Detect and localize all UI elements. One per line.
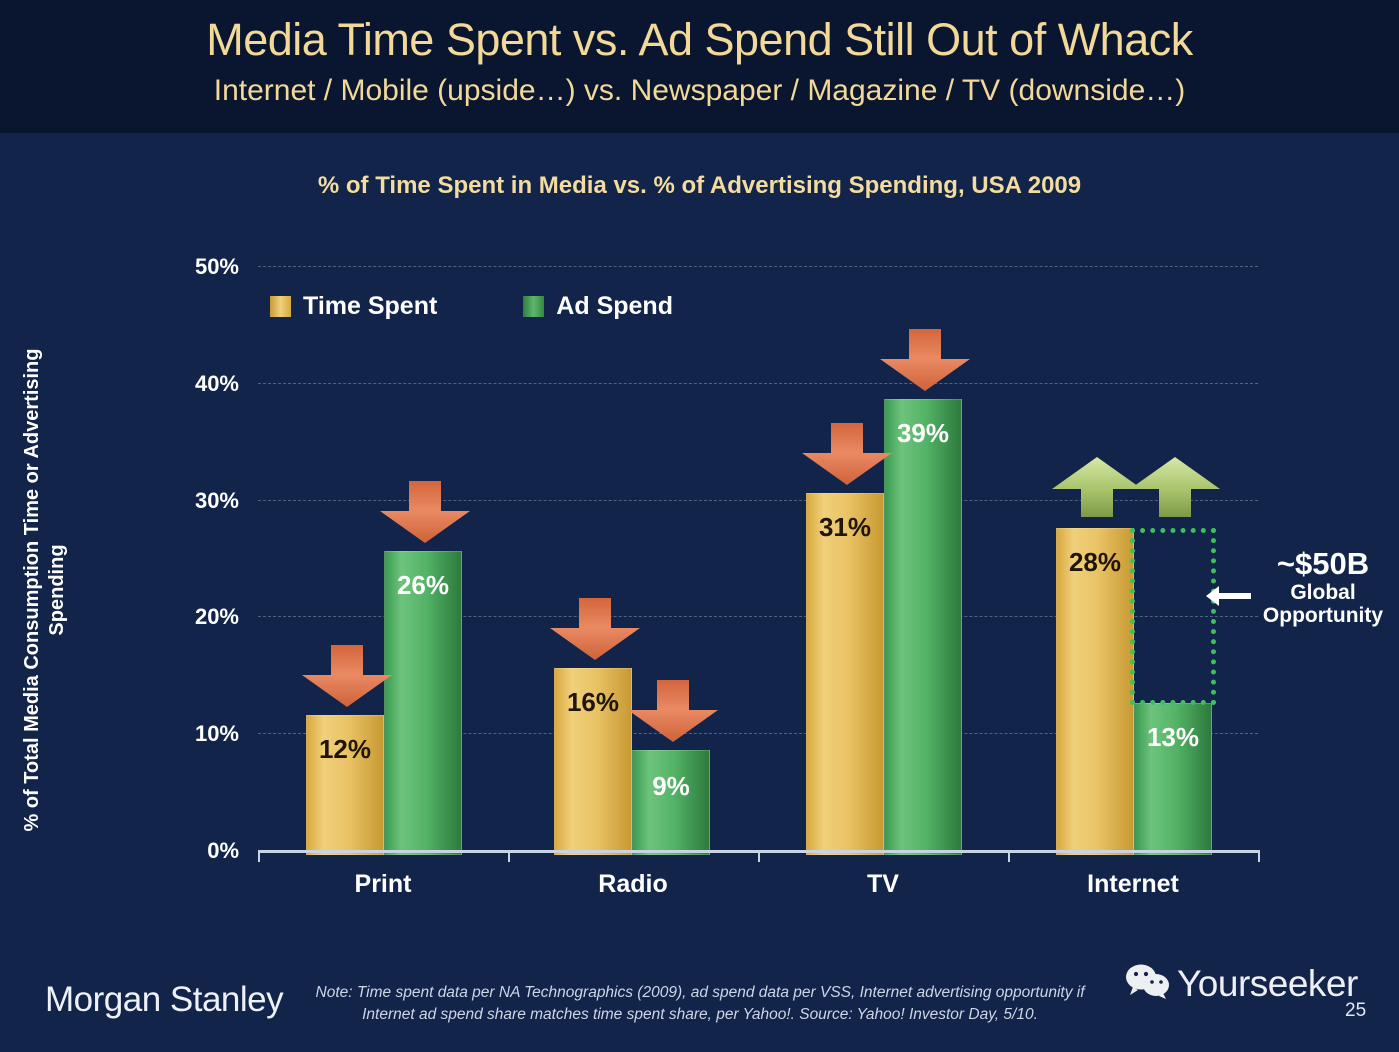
chart-legend: Time Spent Ad Spend — [270, 292, 673, 321]
bar-internet-ad-spend[interactable]: 13% — [1134, 703, 1212, 855]
bar-value-internet-ad-spend: 13% — [1135, 722, 1211, 753]
down-arrow-print-time-spent — [300, 645, 394, 709]
x-axis-tick-3 — [1008, 850, 1010, 862]
x-axis-right-cap — [1258, 850, 1260, 862]
x-category-tv: TV — [758, 870, 1008, 899]
down-arrow-tv-ad-spend — [878, 329, 972, 393]
opportunity-annotation: ~$50B Global Opportunity — [1248, 548, 1398, 628]
x-category-internet: Internet — [1008, 870, 1258, 899]
bar-internet-time-spent[interactable]: 28% — [1056, 528, 1134, 855]
up-arrow-internet-ad-spend — [1128, 455, 1222, 519]
gridline-50 — [258, 266, 1258, 267]
watermark: Yourseeker — [1125, 962, 1358, 1005]
chart-title: % of Time Spent in Media vs. % of Advert… — [0, 172, 1399, 200]
bar-tv-ad-spend[interactable]: 39% — [884, 399, 962, 855]
legend-swatch-ad-spend — [523, 296, 544, 317]
opportunity-highlight-box — [1130, 528, 1216, 705]
legend-label-time-spent: Time Spent — [303, 292, 437, 321]
y-axis-label: % of Total Media Consumption Time or Adv… — [20, 310, 70, 870]
morgan-stanley-logo: Morgan Stanley — [45, 980, 283, 1020]
footnote-text: Note: Time spent data per NA Technograph… — [300, 982, 1100, 1027]
down-arrow-radio-ad-spend — [626, 680, 720, 744]
annotation-line2: Opportunity — [1248, 604, 1398, 628]
legend-item-ad-spend[interactable]: Ad Spend — [523, 292, 673, 321]
annotation-amount: ~$50B — [1248, 548, 1398, 581]
legend-item-time-spent[interactable]: Time Spent — [270, 292, 437, 321]
bar-print-ad-spend[interactable]: 26% — [384, 551, 462, 855]
bar-radio-ad-spend[interactable]: 9% — [632, 750, 710, 855]
bar-value-print-time-spent: 12% — [307, 734, 383, 765]
down-arrow-radio-time-spent — [548, 598, 642, 662]
down-arrow-tv-time-spent — [800, 423, 894, 487]
bar-value-radio-ad-spend: 9% — [633, 771, 709, 802]
annotation-line1: Global — [1248, 581, 1398, 605]
bar-value-tv-time-spent: 31% — [807, 512, 883, 543]
x-axis-tick-2 — [758, 850, 760, 862]
plot-area: 12% 26% 16% 9% 31% 39% 28% 13% — [258, 260, 1258, 855]
watermark-label: Yourseeker — [1177, 963, 1358, 1005]
x-axis-tick-1 — [508, 850, 510, 862]
down-arrow-print-ad-spend — [378, 481, 472, 545]
bar-value-print-ad-spend: 26% — [385, 570, 461, 601]
bar-radio-time-spent[interactable]: 16% — [554, 668, 632, 855]
y-tick-0: 0% — [119, 838, 239, 864]
slide-subtitle: Internet / Mobile (upside…) vs. Newspape… — [0, 74, 1399, 108]
bar-value-tv-ad-spend: 39% — [885, 418, 961, 449]
y-tick-40: 40% — [119, 371, 239, 397]
gridline-40 — [258, 383, 1258, 384]
legend-swatch-time-spent — [270, 296, 291, 317]
y-tick-10: 10% — [119, 721, 239, 747]
bar-print-time-spent[interactable]: 12% — [306, 715, 384, 855]
legend-label-ad-spend: Ad Spend — [556, 292, 673, 321]
y-tick-20: 20% — [119, 604, 239, 630]
x-category-radio: Radio — [508, 870, 758, 899]
x-category-print: Print — [258, 870, 508, 899]
bar-value-radio-time-spent: 16% — [555, 687, 631, 718]
annotation-pointer-arrow — [1205, 584, 1253, 608]
y-tick-30: 30% — [119, 488, 239, 514]
wechat-icon — [1125, 962, 1171, 1005]
bar-value-internet-time-spent: 28% — [1057, 547, 1133, 578]
y-tick-50: 50% — [119, 254, 239, 280]
x-axis-left-cap — [258, 850, 260, 862]
bar-tv-time-spent[interactable]: 31% — [806, 493, 884, 855]
slide-title: Media Time Spent vs. Ad Spend Still Out … — [0, 14, 1399, 66]
